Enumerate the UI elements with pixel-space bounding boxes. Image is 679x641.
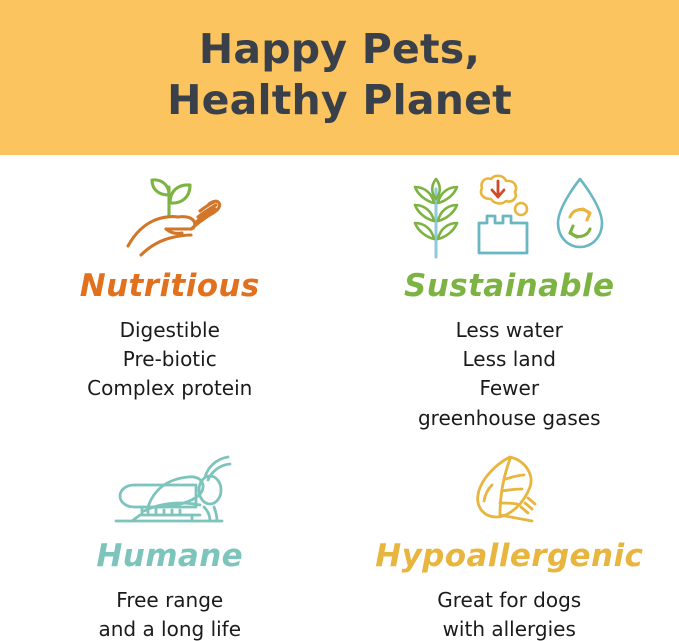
feature-line: Complex protein [87,374,252,403]
feature-line: Less water [418,316,601,345]
feature-line: Less land [418,345,601,374]
cricket-insect-icon [104,455,236,529]
water-droplet-recycle-icon [549,173,611,259]
feature-heading-nutritious: Nutritious [80,271,260,302]
icon-row-hypoallergenic [466,451,552,529]
feature-line: Digestible [87,316,252,345]
feature-block-hypoallergenic: Hypoallergenic Great for dogs with aller… [340,433,679,641]
feature-icon-area-nutritious [114,173,226,259]
feature-heading-humane: Humane [96,541,243,572]
feature-text-humane: Free range and a long life [98,586,241,641]
feature-block-nutritious: Nutritious Digestible Pre-biotic Complex… [0,165,340,433]
feature-line: with allergies [437,615,581,641]
feature-text-sustainable: Less water Less land Fewer greenhouse ga… [418,316,601,433]
feature-line: Free range [98,586,241,615]
feature-line: greenhouse gases [418,404,601,433]
feature-block-sustainable: Sustainable Less water Less land Fewer g… [340,165,679,433]
wheat-plant-icon [407,173,465,259]
page-title-line-1: Happy Pets, [167,24,512,75]
hand-holding-sprout-icon [114,173,226,259]
icon-row-sustainable [407,173,611,259]
factory-emissions-icon [471,173,543,259]
feature-block-humane: Humane Free range and a long life [0,433,340,641]
icon-row-nutritious [114,173,226,259]
feature-icon-area-sustainable [407,173,611,259]
feature-icon-area-hypoallergenic [466,443,552,529]
infographic-page: Happy Pets, Healthy Planet [0,0,679,641]
feature-line: Great for dogs [437,586,581,615]
icon-row-humane [104,455,236,529]
header-banner: Happy Pets, Healthy Planet [0,0,679,155]
feature-grid: Nutritious Digestible Pre-biotic Complex… [0,155,679,641]
feature-heading-hypoallergenic: Hypoallergenic [375,541,643,572]
page-title: Happy Pets, Healthy Planet [167,24,512,126]
feature-line: Fewer [418,374,601,403]
page-title-line-2: Healthy Planet [167,75,512,126]
feature-icon-area-humane [104,443,236,529]
feature-heading-sustainable: Sustainable [404,271,614,302]
feature-line: and a long life [98,615,241,641]
feature-line: Pre-biotic [87,345,252,374]
feature-text-nutritious: Digestible Pre-biotic Complex protein [87,316,252,404]
feather-icon [466,451,552,529]
feature-text-hypoallergenic: Great for dogs with allergies [437,586,581,641]
